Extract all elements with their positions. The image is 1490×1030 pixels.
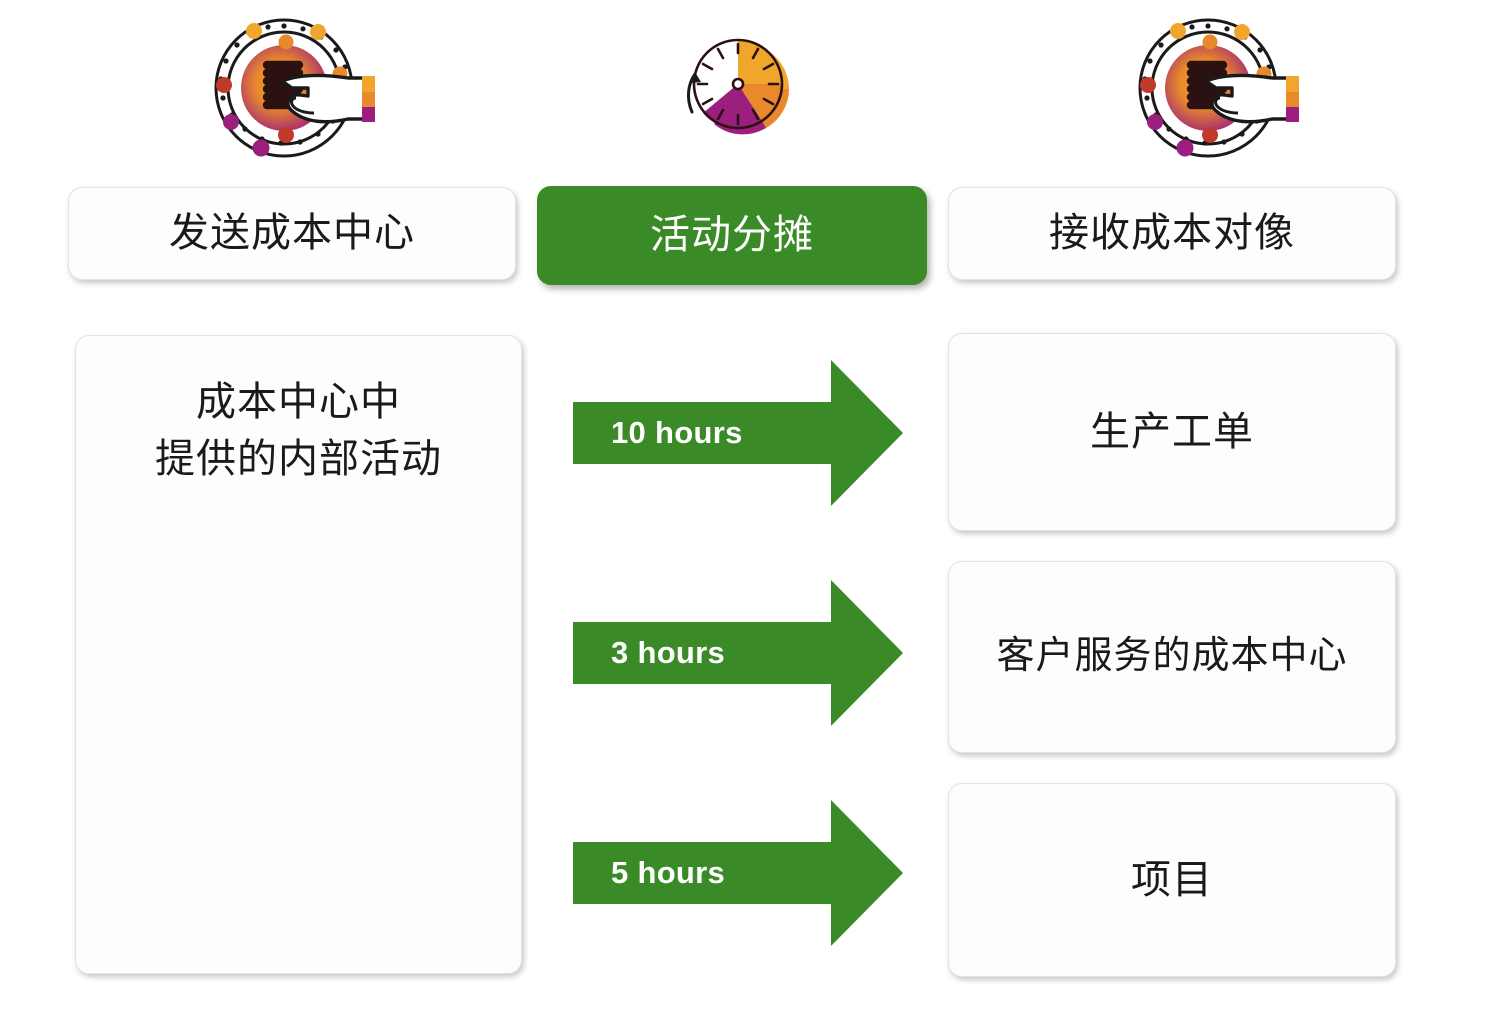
allocation-arrow-3[interactable]: 5 hours	[573, 800, 903, 946]
column-header-receiving-cost-object[interactable]: 接收成本对像	[948, 187, 1396, 280]
column-header-label: 接收成本对像	[1049, 205, 1295, 262]
source-line-2: 提供的内部活动	[155, 437, 442, 481]
receiver-card-project[interactable]: 项目	[948, 783, 1396, 977]
diagram-canvas: 发送成本中心 活动分摊 接收成本对像 成本中心中 提供的内部活动 10 hour…	[0, 0, 1490, 1030]
allocation-arrow-1[interactable]: 10 hours	[573, 360, 903, 506]
receiver-card-label: 项目	[1131, 852, 1213, 909]
column-header-activity-allocation[interactable]: 活动分摊	[537, 186, 927, 285]
column-header-label: 活动分摊	[650, 207, 814, 264]
allocation-arrow-1-label: 10 hours	[611, 360, 743, 506]
source-panel-text: 成本中心中 提供的内部活动	[76, 374, 521, 488]
allocation-arrow-3-label: 5 hours	[611, 800, 725, 946]
receiver-card-label: 生产工单	[1090, 404, 1254, 461]
source-line-1: 成本中心中	[196, 380, 401, 424]
receiver-card-customer-service-cost-center[interactable]: 客户服务的成本中心	[948, 561, 1396, 753]
receiver-card-production-order[interactable]: 生产工单	[948, 333, 1396, 531]
receiver-card-label: 客户服务的成本中心	[996, 630, 1347, 684]
coins-in-hand-icon	[196, 18, 396, 168]
coins-in-hand-icon	[1120, 18, 1320, 168]
allocation-arrow-2-label: 3 hours	[611, 580, 725, 726]
column-header-sending-cost-center[interactable]: 发送成本中心	[68, 187, 516, 280]
column-header-label: 发送成本中心	[169, 205, 415, 262]
source-cost-center-panel[interactable]: 成本中心中 提供的内部活动	[75, 335, 522, 974]
allocation-arrow-2[interactable]: 3 hours	[573, 580, 903, 726]
clock-icon	[676, 28, 806, 150]
